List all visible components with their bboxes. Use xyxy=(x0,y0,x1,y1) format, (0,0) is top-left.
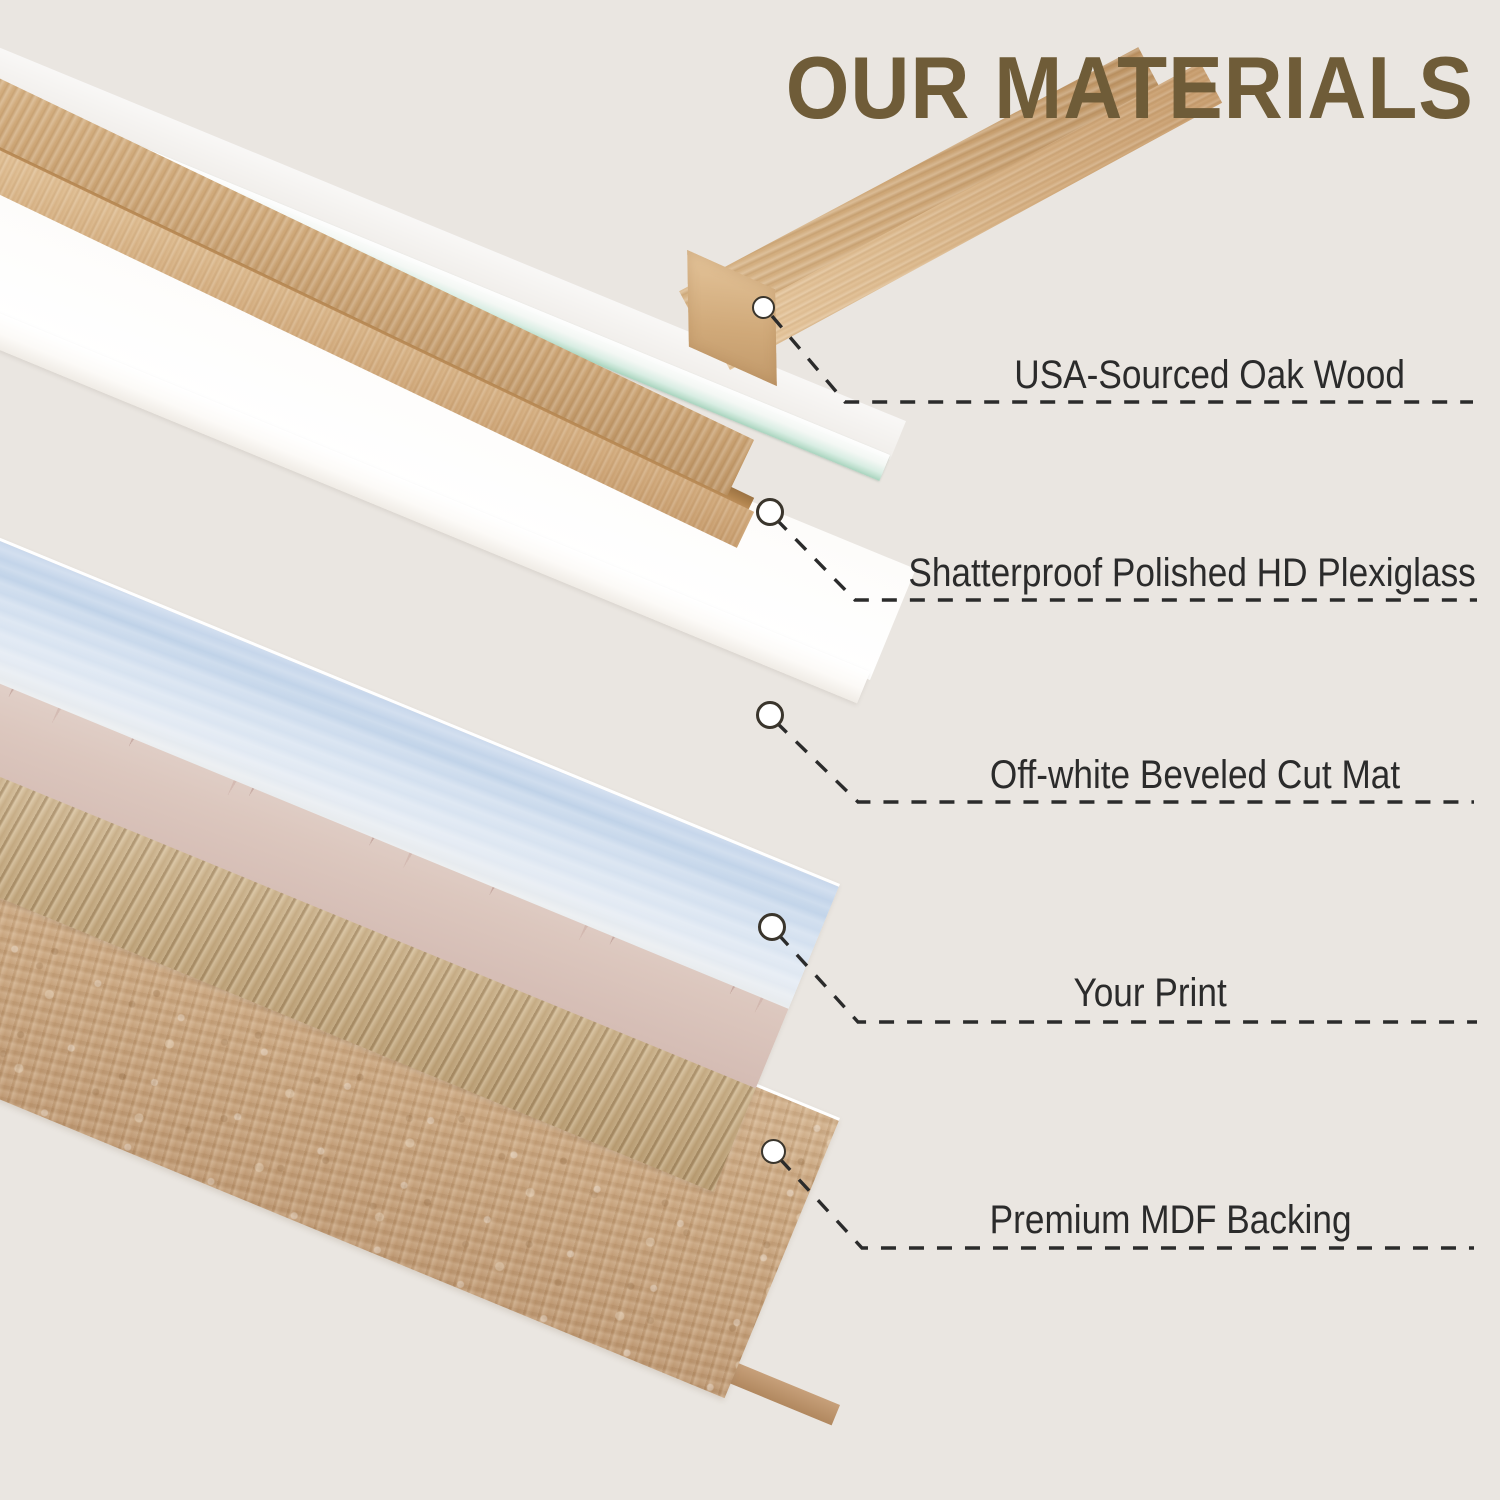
callout-marker-print[interactable] xyxy=(758,913,786,941)
callout-marker-mdf[interactable] xyxy=(761,1139,786,1164)
callout-marker-oak[interactable] xyxy=(752,296,775,319)
callout-marker-mat[interactable] xyxy=(756,701,784,729)
callout-label-mat[interactable]: Off-white Beveled Cut Mat xyxy=(990,755,1400,795)
callout-marker-glass[interactable] xyxy=(756,498,784,526)
product-exploded-photo xyxy=(0,0,900,1500)
oak-frame-layer xyxy=(0,0,910,690)
page-title: OUR MATERIALS xyxy=(786,44,1474,132)
callout-label-mdf[interactable]: Premium MDF Backing xyxy=(990,1200,1352,1240)
infographic-canvas: OUR MATERIALS USA-Sourced Oak Wood Shatt… xyxy=(0,0,1500,1500)
callout-label-print[interactable]: Your Print xyxy=(1073,973,1226,1013)
callout-label-oak[interactable]: USA-Sourced Oak Wood xyxy=(1014,355,1405,395)
callout-label-glass[interactable]: Shatterproof Polished HD Plexiglass xyxy=(909,553,1476,593)
